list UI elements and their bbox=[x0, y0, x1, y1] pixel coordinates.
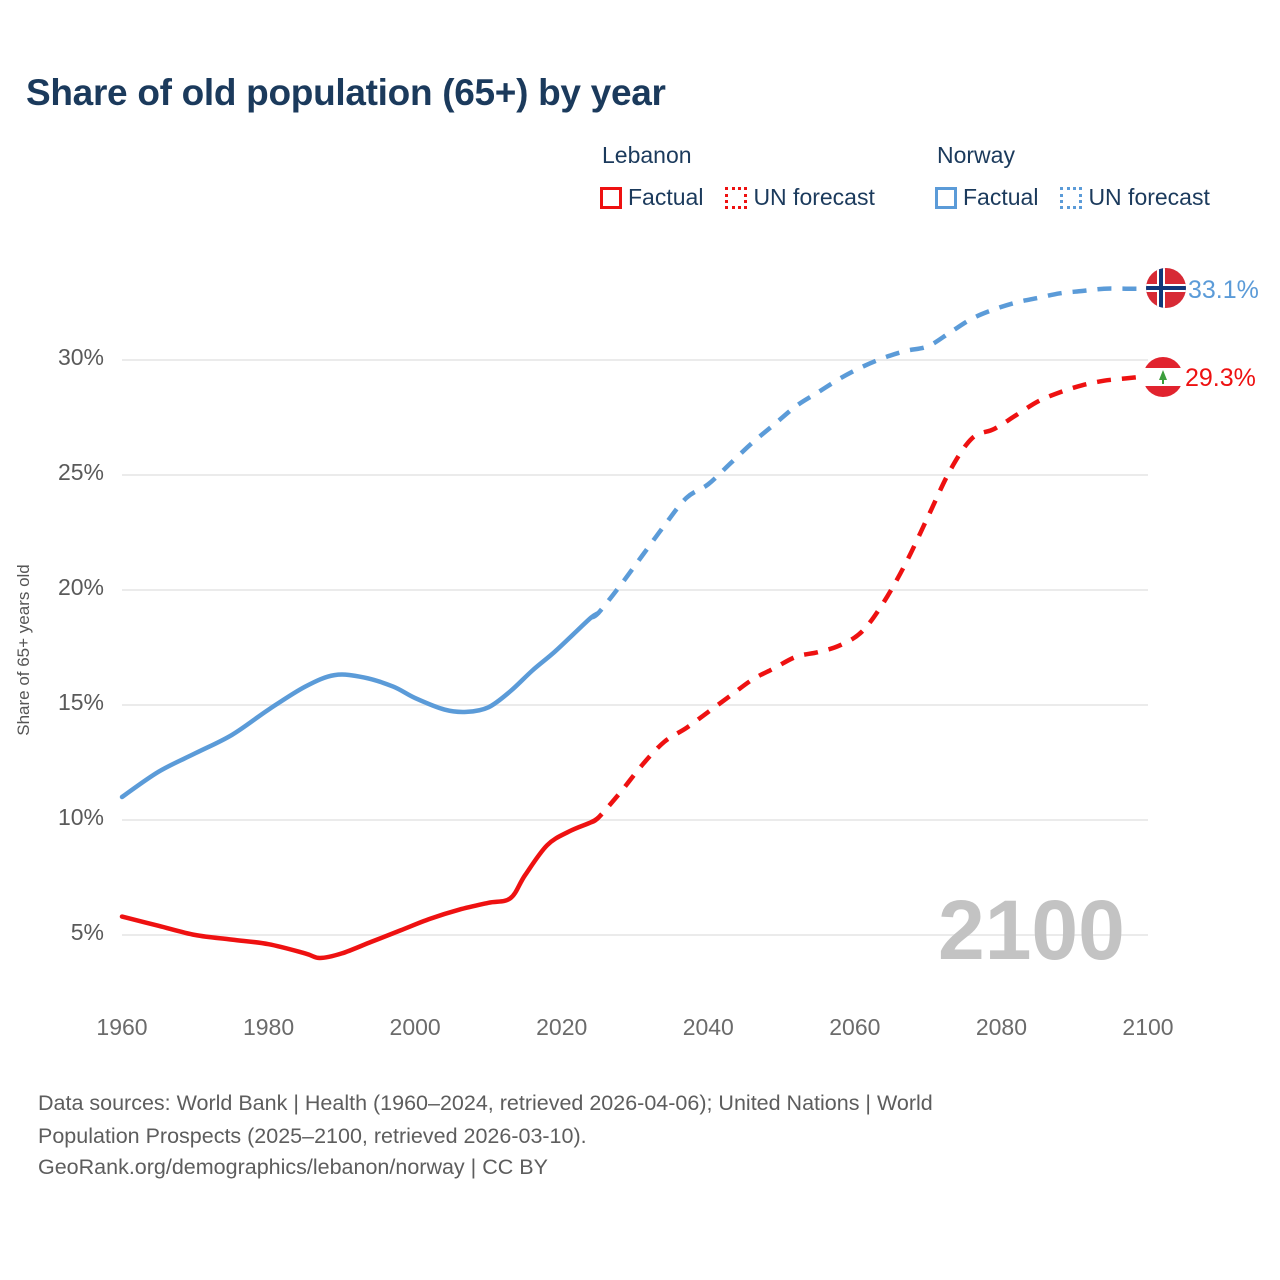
end-label-norway: 33.1% bbox=[1188, 276, 1259, 305]
footer-sources: Data sources: World Bank | Health (1960–… bbox=[38, 1088, 1218, 1183]
series-line-norway-forecast bbox=[591, 289, 1148, 618]
footer-line-2: Population Prospects (2025–2100, retriev… bbox=[38, 1121, 1218, 1152]
lebanon-flag-icon bbox=[1143, 357, 1183, 397]
x-tick-label: 2040 bbox=[648, 1014, 768, 1041]
x-tick-label: 2080 bbox=[941, 1014, 1061, 1041]
y-tick-label: 15% bbox=[14, 689, 104, 716]
footer-line-1: Data sources: World Bank | Health (1960–… bbox=[38, 1088, 1218, 1119]
y-tick-label: 25% bbox=[14, 459, 104, 486]
series-line-lebanon-factual bbox=[122, 818, 598, 958]
x-tick-label: 2100 bbox=[1088, 1014, 1208, 1041]
y-tick-label: 5% bbox=[14, 919, 104, 946]
y-tick-label: 30% bbox=[14, 344, 104, 371]
x-tick-label: 2060 bbox=[795, 1014, 915, 1041]
norway-flag-icon bbox=[1146, 268, 1186, 308]
y-tick-label: 10% bbox=[14, 804, 104, 831]
chart-root: Share of old population (65+) by year Le… bbox=[0, 0, 1280, 1280]
x-tick-label: 2020 bbox=[502, 1014, 622, 1041]
year-watermark: 2100 bbox=[938, 888, 1125, 972]
series-line-lebanon-forecast bbox=[591, 376, 1148, 822]
x-tick-label: 2000 bbox=[355, 1014, 475, 1041]
x-tick-label: 1980 bbox=[209, 1014, 329, 1041]
y-tick-label: 20% bbox=[14, 574, 104, 601]
footer-line-3[interactable]: GeoRank.org/demographics/lebanon/norway … bbox=[38, 1152, 1218, 1183]
end-label-lebanon: 29.3% bbox=[1185, 364, 1256, 393]
x-tick-label: 1960 bbox=[62, 1014, 182, 1041]
